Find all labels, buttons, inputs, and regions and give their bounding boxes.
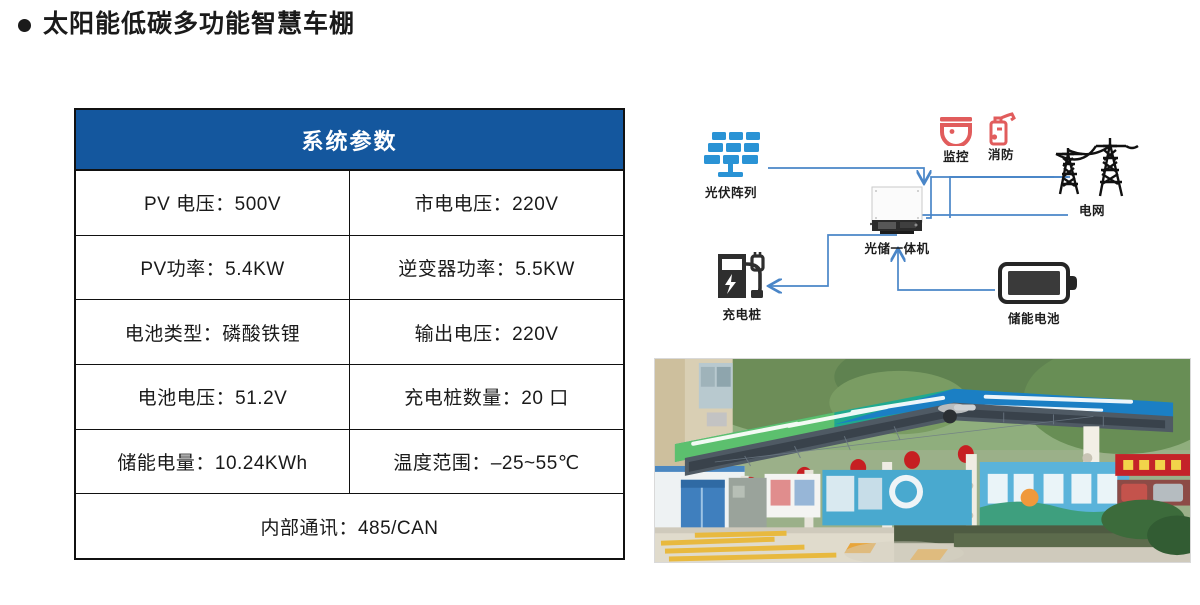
- diagram-node-charger[interactable]: 充电桩: [712, 250, 780, 320]
- battery-icon: [998, 260, 1080, 306]
- table-header: 系统参数: [76, 110, 623, 171]
- wire-grid-run: [926, 177, 1054, 218]
- carport-photo: [654, 358, 1191, 563]
- table-cell-inverter-power: 逆变器功率：5.5KW: [350, 236, 623, 300]
- bullet-icon: [18, 19, 31, 32]
- table-row: PV功率：5.4KW 逆变器功率：5.5KW: [76, 236, 623, 301]
- diagram-label-grid: 电网: [1079, 200, 1105, 219]
- table-row: PV 电压：500V 市电电压：220V: [76, 171, 623, 236]
- fire-extinguisher-icon: [984, 112, 1020, 146]
- carport-photo-image: [655, 359, 1190, 562]
- power-tower-icon: [1048, 138, 1140, 200]
- diagram-node-battery[interactable]: 储能电池: [998, 260, 1084, 326]
- diagram-node-grid[interactable]: 电网: [1048, 138, 1140, 218]
- table-cell-battery-voltage: 电池电压：51.2V: [76, 365, 350, 429]
- diagram-label-battery: 储能电池: [1008, 308, 1060, 327]
- diagram-label-inverter: 光储一体机: [864, 238, 929, 257]
- table-cell-battery-type: 电池类型：磷酸铁锂: [76, 300, 350, 364]
- system-parameters-table: 系统参数 PV 电压：500V 市电电压：220V PV功率：5.4KW 逆变器…: [74, 108, 625, 560]
- table-cell-charger-count: 充电桩数量：20 口: [350, 365, 623, 429]
- table-cell-temp-range: 温度范围：–25~55℃: [350, 430, 623, 494]
- diagram-node-pv[interactable]: 光伏阵列: [702, 128, 782, 198]
- solar-panel-icon: [702, 128, 782, 180]
- table-row: 内部通讯：485/CAN: [76, 494, 623, 558]
- cctv-camera-icon: [938, 116, 974, 146]
- table-row: 电池类型：磷酸铁锂 输出电压：220V: [76, 300, 623, 365]
- table-cell-output-voltage: 输出电压：220V: [350, 300, 623, 364]
- table-cell-storage-capacity: 储能电量：10.24KWh: [76, 430, 350, 494]
- diagram-label-fire: 消防: [988, 144, 1014, 163]
- table-cell-pv-power: PV功率：5.4KW: [76, 236, 350, 300]
- diagram-label-monitor: 监控: [943, 146, 969, 165]
- page-title-text: 太阳能低碳多功能智慧车棚: [43, 12, 355, 37]
- page-title: 太阳能低碳多功能智慧车棚: [18, 12, 355, 37]
- hybrid-inverter-icon: [870, 186, 924, 236]
- system-topology-diagram: 光伏阵列 监控 消防: [650, 100, 1190, 350]
- wire-pv-to-inverter: [768, 168, 924, 182]
- diagram-label-pv: 光伏阵列: [705, 182, 757, 201]
- ev-charger-icon: [712, 250, 774, 302]
- diagram-node-fire[interactable]: 消防: [984, 112, 1024, 166]
- table-row: 储能电量：10.24KWh 温度范围：–25~55℃: [76, 430, 623, 495]
- diagram-node-inverter[interactable]: 光储一体机: [870, 186, 926, 254]
- table-row: 电池电压：51.2V 充电桩数量：20 口: [76, 365, 623, 430]
- diagram-label-charger: 充电桩: [722, 304, 761, 323]
- table-cell-pv-voltage: PV 电压：500V: [76, 171, 350, 235]
- diagram-node-monitor[interactable]: 监控: [938, 116, 978, 166]
- table-cell-internal-comm: 内部通讯：485/CAN: [76, 494, 623, 558]
- table-cell-grid-voltage: 市电电压：220V: [350, 171, 623, 235]
